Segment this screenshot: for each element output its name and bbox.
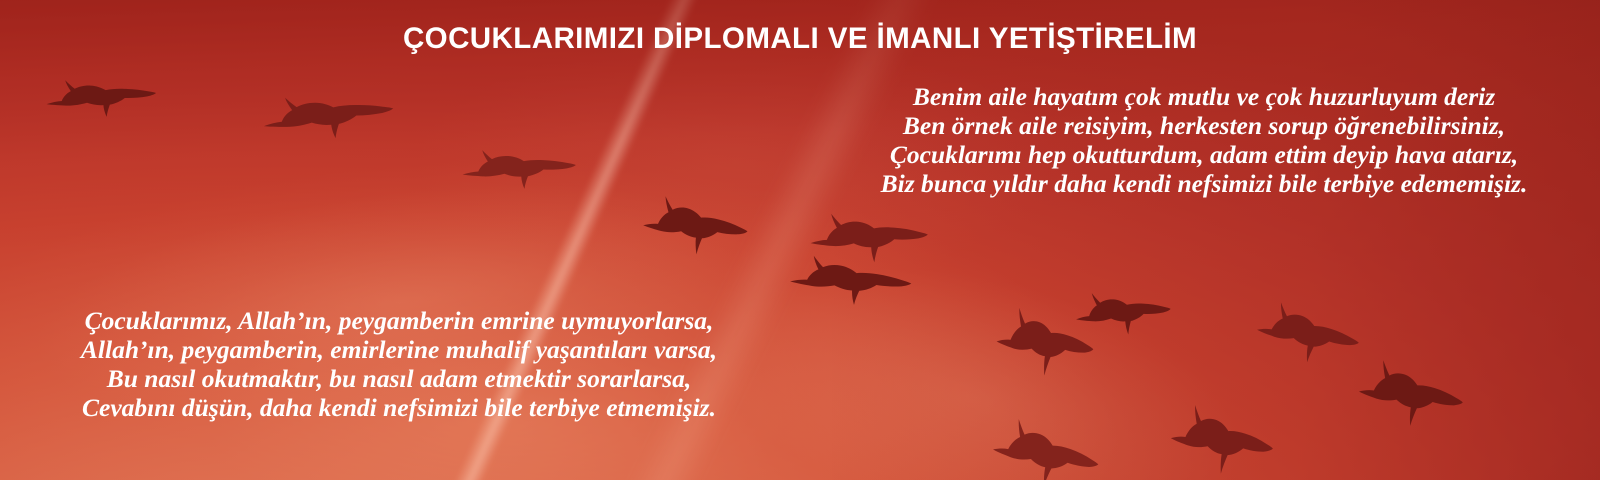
goose-bottom-left	[983, 400, 1110, 480]
flying-goose-silhouette-icon	[784, 243, 917, 312]
flying-goose-silhouette-icon	[457, 135, 582, 195]
quote-block-right: Benim aile hayatım çok mutlu ve çok huzu…	[814, 82, 1594, 198]
goose-right-cluster-b	[1070, 277, 1176, 342]
goose-right-mid	[1249, 285, 1370, 375]
goose-upper-left-second	[255, 75, 401, 149]
flying-goose-silhouette-icon	[255, 75, 401, 149]
flying-goose-silhouette-icon	[1350, 342, 1473, 439]
quote-line: Ben örnek aile reisiyim, herkesten sorup…	[814, 111, 1594, 140]
goose-center	[637, 180, 756, 263]
quote-line: Benim aile hayatım çok mutlu ve çok huzu…	[814, 82, 1594, 111]
flying-goose-silhouette-icon	[1070, 277, 1176, 342]
quote-line: Bu nasıl okutmaktır, bu nasıl adam etmek…	[4, 364, 794, 393]
quote-block-left: Çocuklarımız, Allah’ın, peygamberin emri…	[4, 306, 794, 422]
flying-goose-silhouette-icon	[637, 180, 756, 263]
quote-line: Çocuklarımı hep okutturdum, adam ettim d…	[814, 140, 1594, 169]
page-title: ÇOCUKLARIMIZI DİPLOMALI VE İMANLI YETİŞT…	[12, 23, 1588, 55]
flying-goose-silhouette-icon	[1162, 386, 1284, 480]
goose-upper-left	[40, 64, 161, 124]
quote-line: Allah’ın, peygamberin, emirlerine muhali…	[4, 335, 794, 364]
quote-line: Cevabını düşün, daha kendi nefsimizi bil…	[4, 393, 794, 422]
goose-upper-mid	[457, 135, 582, 195]
quote-line: Çocuklarımız, Allah’ın, peygamberin emri…	[4, 306, 794, 335]
sunset-birds-banner: ÇOCUKLARIMIZI DİPLOMALI VE İMANLI YETİŞT…	[0, 0, 1600, 480]
goose-center-lower	[784, 243, 917, 312]
flying-goose-silhouette-icon	[40, 64, 161, 124]
quote-line: Biz bunca yıldır daha kendi nefsimizi bi…	[814, 169, 1594, 198]
goose-bottom-mid	[1162, 386, 1284, 480]
goose-right-far	[1350, 342, 1473, 439]
flying-goose-silhouette-icon	[1249, 285, 1370, 375]
flying-goose-silhouette-icon	[983, 400, 1110, 480]
